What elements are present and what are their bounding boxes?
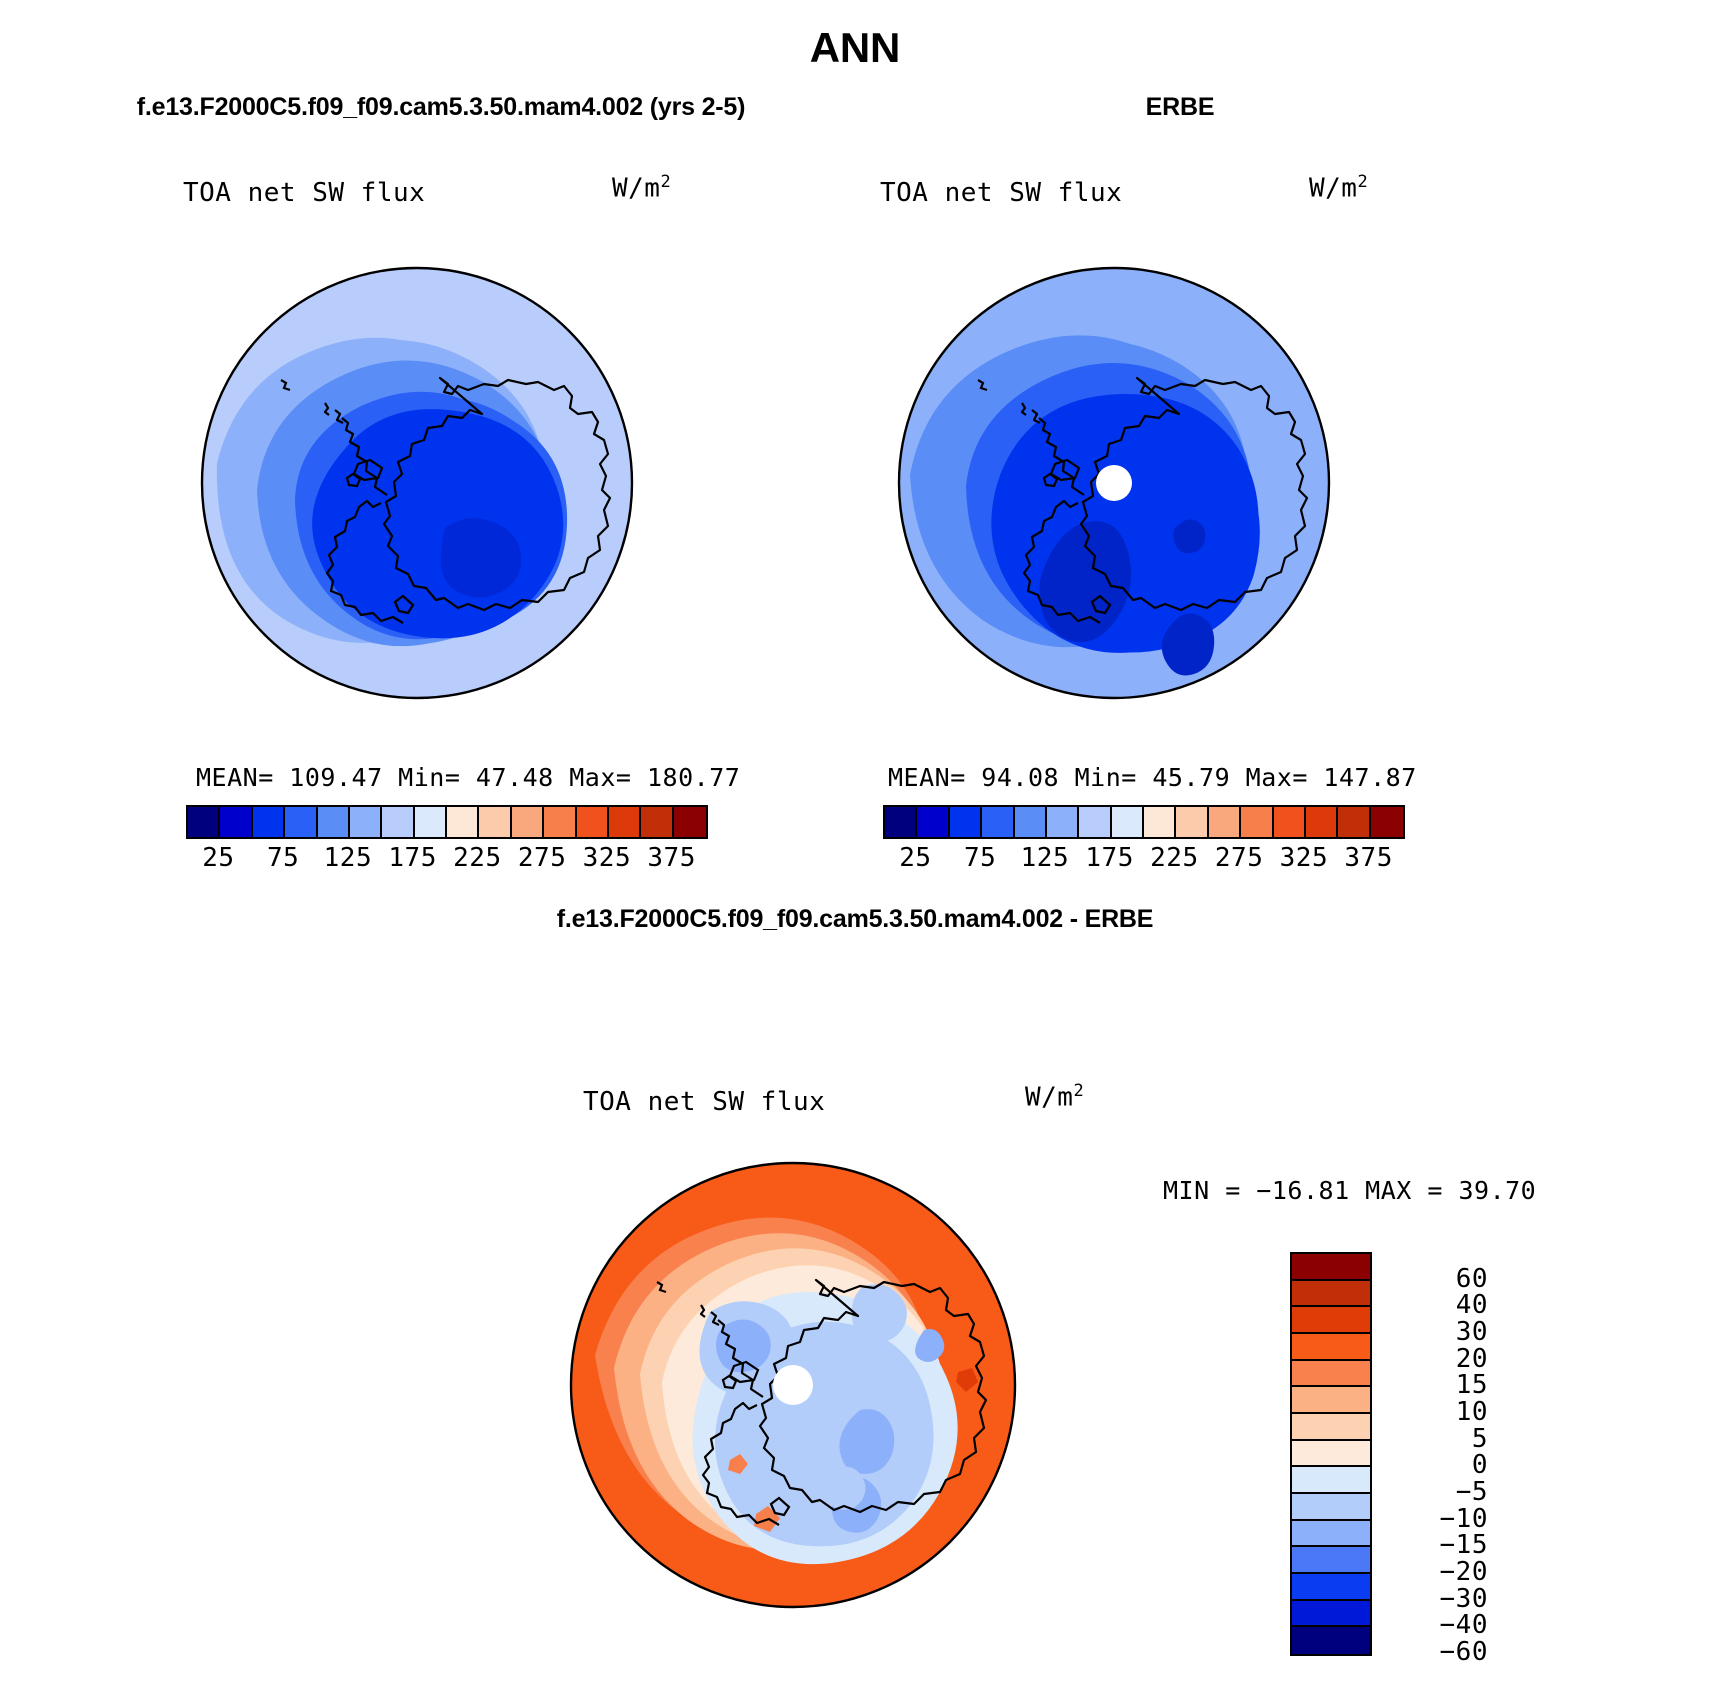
obs-colorbar xyxy=(883,805,1405,839)
pole-hole xyxy=(1096,465,1132,501)
colorbar-cell xyxy=(609,807,641,837)
colorbar-cell xyxy=(1292,1307,1370,1334)
model-panel-title: f.e13.F2000C5.f09_f09.cam5.3.50.mam4.002… xyxy=(96,93,786,122)
colorbar-cell xyxy=(220,807,252,837)
colorbar-cell xyxy=(950,807,982,837)
colorbar-cell xyxy=(917,807,949,837)
colorbar-cell xyxy=(1241,807,1273,837)
colorbar-cell xyxy=(982,807,1014,837)
difference-units-label: W/m2 xyxy=(1025,1081,1084,1113)
colorbar-tick-label: 125 xyxy=(1021,843,1069,873)
page-title: ANN xyxy=(0,24,1710,72)
colorbar-tick-label: 275 xyxy=(1215,843,1263,873)
colorbar-tick-label: 325 xyxy=(1280,843,1328,873)
model-map xyxy=(195,228,655,738)
colorbar-cell xyxy=(253,807,285,837)
colorbar-cell xyxy=(544,807,576,837)
colorbar-tick-label: 225 xyxy=(453,843,501,873)
colorbar-tick-label: 325 xyxy=(583,843,631,873)
pole-hole xyxy=(773,1365,813,1405)
colorbar-tick-label: 275 xyxy=(518,843,566,873)
colorbar-tick-label: 175 xyxy=(1085,843,1133,873)
colorbar-cell xyxy=(1274,807,1306,837)
colorbar-cell xyxy=(318,807,350,837)
colorbar-tick-label: −40 xyxy=(1378,1610,1488,1640)
colorbar-cell xyxy=(188,807,220,837)
colorbar-cell xyxy=(1112,807,1144,837)
colorbar-tick-label: 10 xyxy=(1378,1397,1488,1427)
colorbar-tick-label: 0 xyxy=(1378,1450,1488,1480)
difference-variable-label: TOA net SW flux xyxy=(583,1087,825,1117)
colorbar-tick-label: 125 xyxy=(324,843,372,873)
colorbar-cell xyxy=(577,807,609,837)
colorbar-tick-label: 25 xyxy=(899,843,931,873)
colorbar-tick-label: 175 xyxy=(388,843,436,873)
colorbar-cell xyxy=(1306,807,1338,837)
colorbar-cell xyxy=(1292,1387,1370,1414)
colorbar-cell xyxy=(674,807,706,837)
colorbar-cell xyxy=(1176,807,1208,837)
colorbar-cell xyxy=(1338,807,1370,837)
obs-colorbar-ticks: 2575125175225275325375 xyxy=(883,843,1401,877)
colorbar-cell xyxy=(1292,1547,1370,1574)
colorbar-cell xyxy=(1292,1414,1370,1441)
colorbar-cell xyxy=(1144,807,1176,837)
obs-panel-title: ERBE xyxy=(1020,93,1340,122)
colorbar-cell xyxy=(1292,1521,1370,1548)
colorbar-cell xyxy=(1292,1494,1370,1521)
colorbar-cell xyxy=(447,807,479,837)
model-units-label: W/m2 xyxy=(612,172,671,204)
colorbar-cell xyxy=(479,807,511,837)
colorbar-tick-label: 30 xyxy=(1378,1317,1488,1347)
obs-stats: MEAN= 94.08 Min= 45.79 Max= 147.87 xyxy=(888,763,1417,792)
colorbar-cell xyxy=(1047,807,1079,837)
colorbar-tick-label: 40 xyxy=(1378,1290,1488,1320)
colorbar-cell xyxy=(382,807,414,837)
colorbar-tick-label: 75 xyxy=(267,843,299,873)
colorbar-tick-label: 20 xyxy=(1378,1344,1488,1374)
colorbar-tick-label: 60 xyxy=(1378,1264,1488,1294)
colorbar-tick-label: −60 xyxy=(1378,1637,1488,1667)
model-colorbar-ticks: 2575125175225275325375 xyxy=(186,843,704,877)
colorbar-cell xyxy=(1292,1467,1370,1494)
colorbar-cell xyxy=(350,807,382,837)
colorbar-cell xyxy=(1292,1281,1370,1308)
model-variable-label: TOA net SW flux xyxy=(183,178,425,208)
colorbar-cell xyxy=(1292,1627,1370,1654)
obs-variable-label: TOA net SW flux xyxy=(880,178,1122,208)
obs-map xyxy=(892,228,1352,738)
colorbar-cell xyxy=(1292,1254,1370,1281)
colorbar-cell xyxy=(885,807,917,837)
colorbar-tick-label: 375 xyxy=(1344,843,1392,873)
colorbar-cell xyxy=(1079,807,1111,837)
colorbar-cell xyxy=(641,807,673,837)
difference-colorbar-ticks: 60403020151050−5−10−15−20−30−40−60 xyxy=(1378,1252,1498,1652)
difference-map xyxy=(560,1130,1060,1640)
model-colorbar xyxy=(186,805,708,839)
colorbar-tick-label: −15 xyxy=(1378,1530,1488,1560)
colorbar-cell xyxy=(1292,1334,1370,1361)
colorbar-cell xyxy=(1371,807,1403,837)
colorbar-tick-label: −30 xyxy=(1378,1584,1488,1614)
obs-units-label: W/m2 xyxy=(1309,172,1368,204)
colorbar-cell xyxy=(1292,1574,1370,1601)
model-stats: MEAN= 109.47 Min= 47.48 Max= 180.77 xyxy=(196,763,740,792)
difference-panel-title: f.e13.F2000C5.f09_f09.cam5.3.50.mam4.002… xyxy=(310,905,1400,934)
colorbar-cell xyxy=(1292,1601,1370,1628)
colorbar-cell xyxy=(512,807,544,837)
colorbar-tick-label: 225 xyxy=(1150,843,1198,873)
colorbar-tick-label: 5 xyxy=(1378,1424,1488,1454)
difference-stats: MIN = −16.81 MAX = 39.70 xyxy=(1163,1176,1536,1205)
colorbar-tick-label: 375 xyxy=(647,843,695,873)
colorbar-cell xyxy=(1292,1361,1370,1388)
colorbar-tick-label: 75 xyxy=(964,843,996,873)
colorbar-cell xyxy=(415,807,447,837)
colorbar-tick-label: −20 xyxy=(1378,1557,1488,1587)
colorbar-tick-label: 15 xyxy=(1378,1370,1488,1400)
colorbar-cell xyxy=(1209,807,1241,837)
colorbar-cell xyxy=(1015,807,1047,837)
colorbar-tick-label: −5 xyxy=(1378,1477,1488,1507)
colorbar-cell xyxy=(1292,1441,1370,1468)
difference-colorbar xyxy=(1290,1252,1372,1656)
colorbar-cell xyxy=(285,807,317,837)
colorbar-tick-label: 25 xyxy=(202,843,234,873)
colorbar-tick-label: −10 xyxy=(1378,1504,1488,1534)
